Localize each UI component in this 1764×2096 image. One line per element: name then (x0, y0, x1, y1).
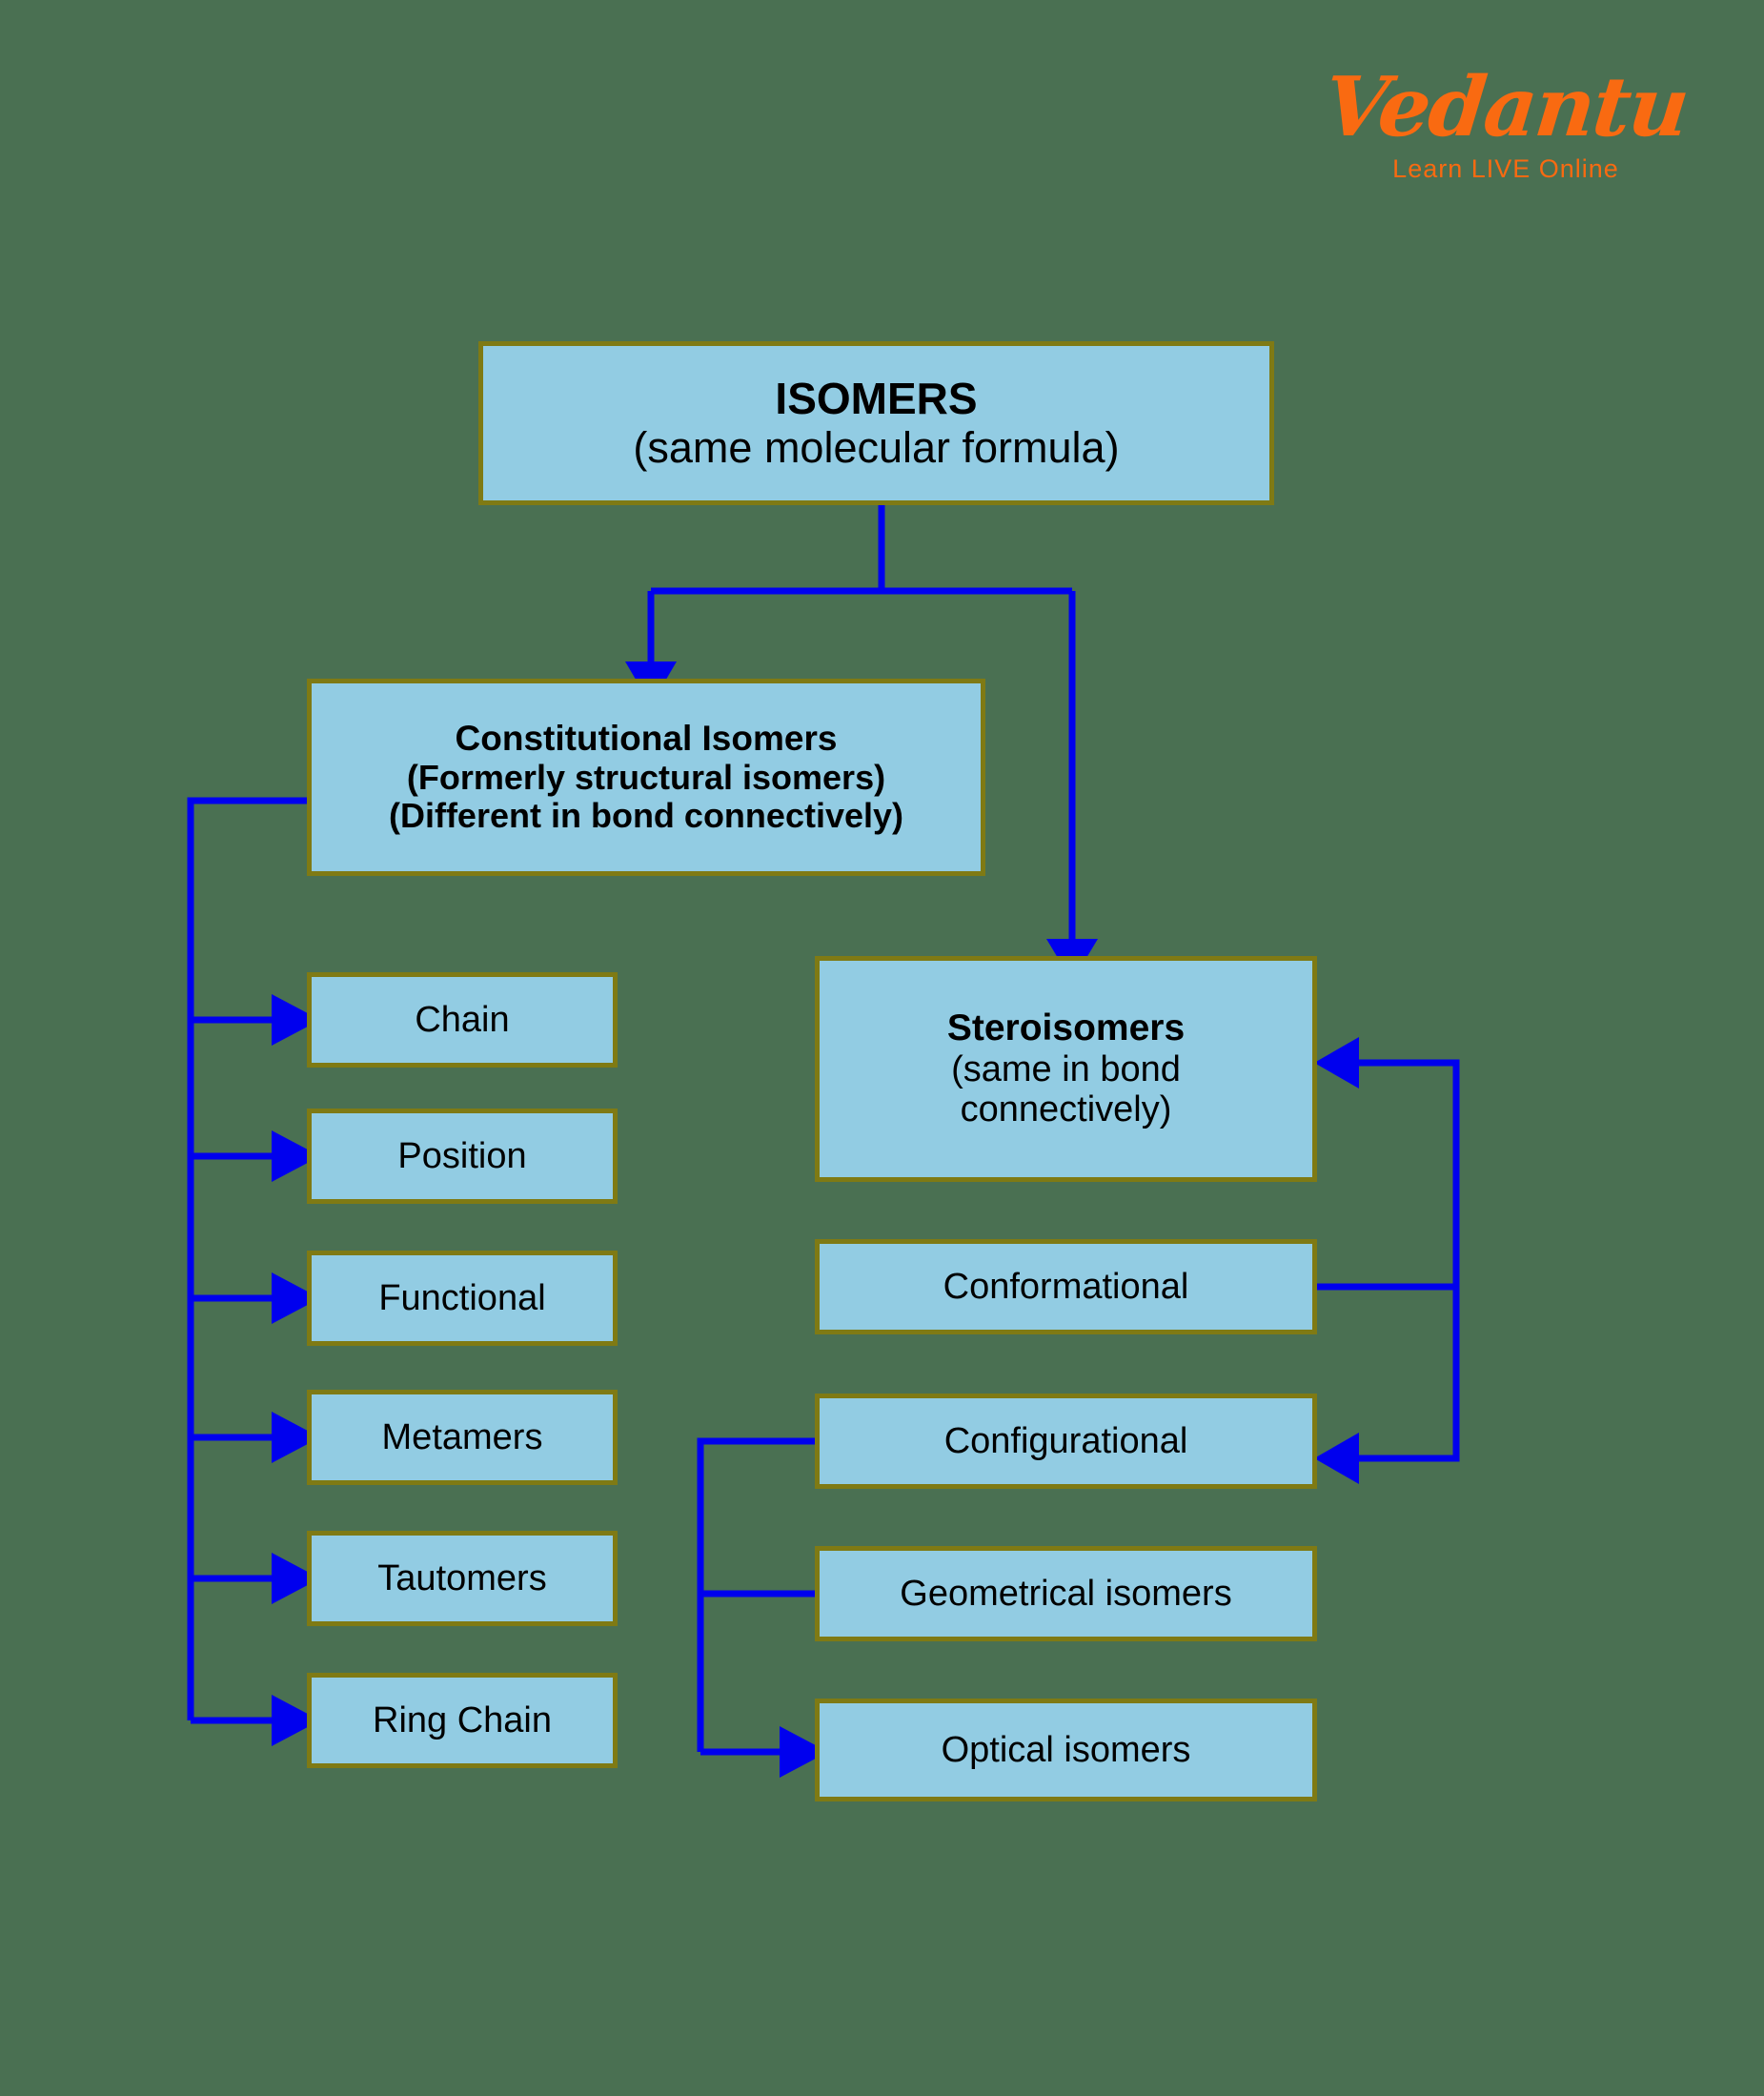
node-position[interactable]: Position (307, 1109, 618, 1204)
node-constitutional-line1: Constitutional Isomers (456, 719, 838, 758)
brand-logo: Vedantu Learn LIVE Online (1315, 67, 1696, 184)
node-functional[interactable]: Functional (307, 1251, 618, 1346)
node-constitutional-line2: (Formerly structural isomers) (407, 759, 885, 797)
node-stereoisomers-line3: connectively) (961, 1089, 1172, 1130)
node-ring-chain-label: Ring Chain (373, 1700, 552, 1741)
node-metamers-label: Metamers (382, 1417, 543, 1458)
node-tautomers[interactable]: Tautomers (307, 1531, 618, 1626)
node-stereoisomers-line1: Steroisomers (947, 1007, 1185, 1049)
node-metamers[interactable]: Metamers (307, 1390, 618, 1485)
edge-conformational-stereoisomers (1359, 1063, 1456, 1287)
node-isomers-line2: (same molecular formula) (633, 424, 1119, 472)
node-constitutional-isomers[interactable]: Constitutional Isomers (Formerly structu… (307, 679, 985, 876)
node-conformational[interactable]: Conformational (815, 1239, 1317, 1334)
node-chain[interactable]: Chain (307, 972, 618, 1068)
node-position-label: Position (397, 1136, 526, 1177)
node-stereoisomers-line2: (same in bond (951, 1049, 1181, 1090)
node-configurational[interactable]: Configurational (815, 1394, 1317, 1489)
edge-conformational-configurational (1359, 1287, 1456, 1458)
node-ring-chain[interactable]: Ring Chain (307, 1673, 618, 1768)
node-chain-label: Chain (415, 1000, 509, 1041)
node-tautomers-label: Tautomers (377, 1558, 546, 1599)
node-isomers[interactable]: ISOMERS (same molecular formula) (478, 341, 1274, 505)
arrowhead-configurational (1314, 1433, 1359, 1484)
arrowhead-stereoisomers-loop (1314, 1037, 1359, 1089)
node-isomers-line1: ISOMERS (775, 375, 977, 424)
node-conformational-label: Conformational (943, 1267, 1189, 1308)
brand-tagline: Learn LIVE Online (1315, 154, 1696, 184)
node-stereoisomers[interactable]: Steroisomers (same in bond connectively) (815, 956, 1317, 1182)
node-constitutional-line3: (Different in bond connectively) (389, 797, 903, 835)
node-geometrical-label: Geometrical isomers (900, 1574, 1231, 1615)
node-functional-label: Functional (378, 1278, 545, 1319)
node-geometrical-isomers[interactable]: Geometrical isomers (815, 1546, 1317, 1641)
node-optical-label: Optical isomers (942, 1730, 1191, 1771)
node-configurational-label: Configurational (944, 1421, 1188, 1462)
brand-name: Vedantu (1310, 67, 1700, 149)
node-optical-isomers[interactable]: Optical isomers (815, 1699, 1317, 1801)
